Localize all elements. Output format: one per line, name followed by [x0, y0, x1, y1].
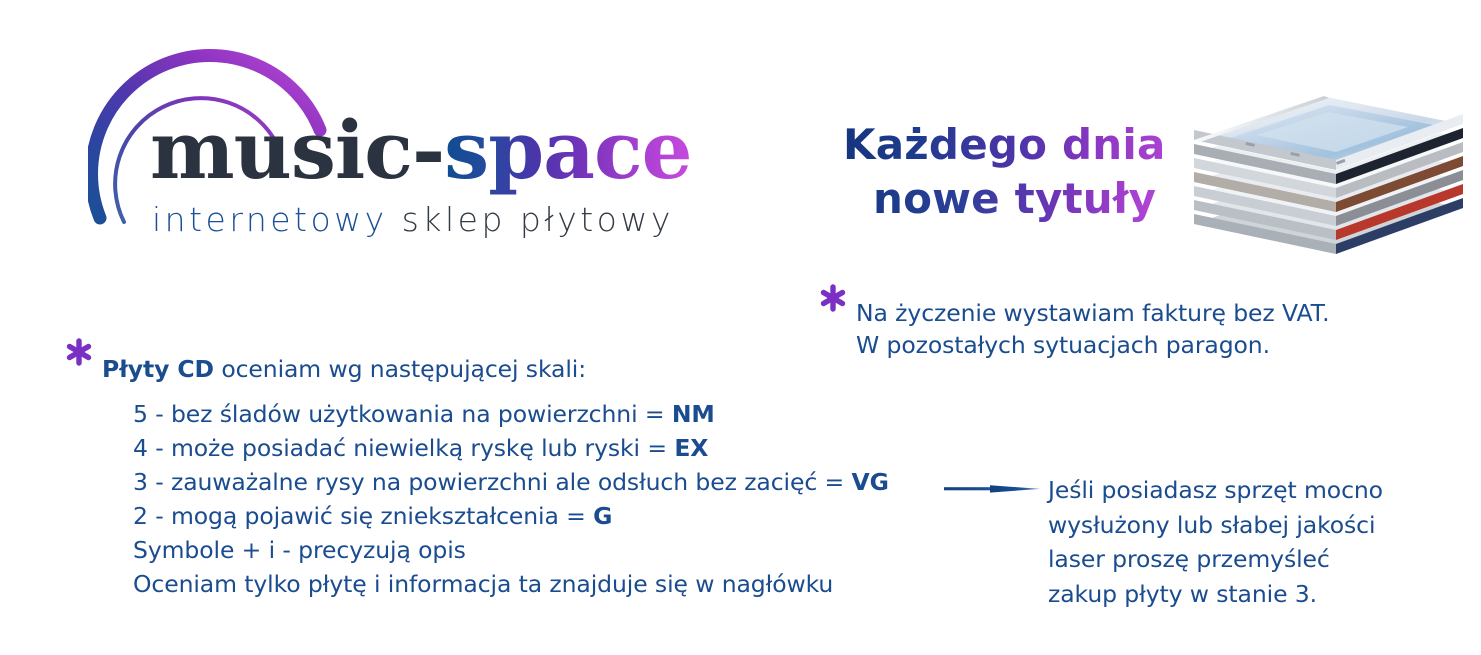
grading-scale-heading: Płyty CD oceniam wg następującej skali:: [102, 353, 962, 385]
site-logo[interactable]: music-space internetowy sklep płytowy: [88, 22, 768, 252]
list-item: Symbole + i - precyzują opis: [133, 534, 962, 568]
right-arrow-icon: [944, 478, 1040, 500]
grading-scale-heading-bold: Płyty CD: [102, 355, 214, 383]
grade-code: VG: [852, 468, 889, 496]
grade-code: G: [593, 502, 612, 530]
advice-line-1: Jeśli posiadasz sprzęt mocno: [1048, 473, 1448, 508]
logo-tagline-part-2: sklep płytowy: [402, 200, 674, 239]
list-item: 4 - może posiadać niewielką ryskę lub ry…: [133, 432, 962, 466]
grade-code: EX: [674, 434, 708, 462]
advice-line-3: laser proszę przemyśleć: [1048, 542, 1448, 577]
grade-description: Oceniam tylko płytę i informacja ta znaj…: [133, 570, 833, 598]
logo-tagline: internetowy sklep płytowy: [152, 200, 674, 239]
logo-word-music: music-: [150, 103, 444, 197]
grade-description: 4 - może posiadać niewielką ryskę lub ry…: [133, 434, 674, 462]
grade-code: NM: [672, 400, 715, 428]
grade-description: 3 - zauważalne rysy na powierzchni ale o…: [133, 468, 852, 496]
cd-jewel-case-stack-photo: [1186, 58, 1471, 258]
grading-scale-heading-rest: oceniam wg następującej skali:: [214, 355, 586, 383]
list-item: 2 - mogą pojawić się zniekształcenia = G: [133, 500, 962, 534]
advice-line-4: zakup płyty w stanie 3.: [1048, 577, 1448, 612]
logo-tagline-part-1: internetowy: [152, 200, 402, 239]
slogan-line-1: Każdego dnia: [843, 118, 1166, 172]
grade-description: 2 - mogą pojawić się zniekształcenia =: [133, 502, 593, 530]
list-item: Oceniam tylko płytę i informacja ta znaj…: [133, 568, 962, 602]
asterisk-icon: [818, 283, 848, 313]
advice-line-2: wysłużony lub słabej jakości: [1048, 508, 1448, 543]
advice-note: Jeśli posiadasz sprzęt mocno wysłużony l…: [1048, 473, 1448, 611]
grading-scale: Płyty CD oceniam wg następującej skali: …: [102, 353, 962, 602]
list-item: 5 - bez śladów użytkowania na powierzchn…: [133, 398, 962, 432]
vat-note-line-1: Na życzenie wystawiam fakturę bez VAT.: [856, 297, 1456, 329]
logo-wordmark: music-space: [150, 110, 692, 190]
slogan-line-2: nowe tytuły: [873, 172, 1166, 226]
banner-root: { "logo": { "word_primary": "music-", "w…: [0, 0, 1481, 655]
grading-scale-list: 5 - bez śladów użytkowania na powierzchn…: [102, 398, 962, 602]
grade-description: 5 - bez śladów użytkowania na powierzchn…: [133, 400, 672, 428]
grade-description: Symbole + i - precyzują opis: [133, 536, 466, 564]
list-item: 3 - zauważalne rysy na powierzchni ale o…: [133, 466, 962, 500]
asterisk-icon: [64, 337, 94, 367]
logo-word-space: space: [444, 103, 691, 197]
slogan: Każdego dnia nowe tytuły: [843, 118, 1166, 226]
